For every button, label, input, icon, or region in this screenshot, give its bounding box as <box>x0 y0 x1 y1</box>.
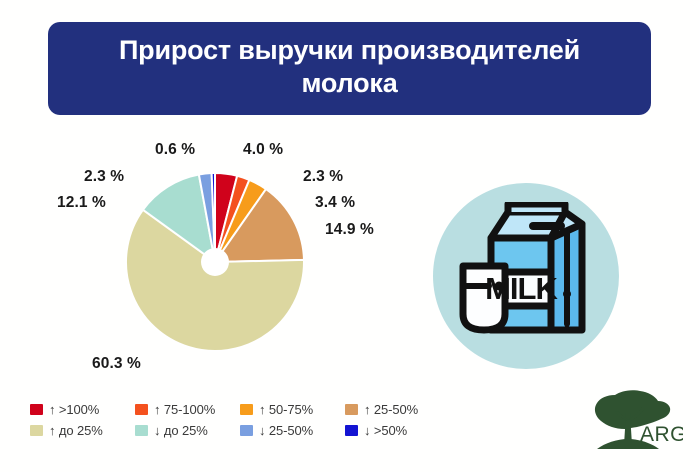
pie-label-up-gt100: 4.0 % <box>243 141 283 159</box>
legend-swatch <box>240 404 253 415</box>
carton-label-text: MILK <box>485 271 558 306</box>
legend-swatch <box>345 404 358 415</box>
legend-item-label: ↑ >100% <box>49 402 99 417</box>
title-banner: Прирост выручки производителей молока <box>48 22 651 115</box>
legend-item-label: ↓ 25-50% <box>259 423 313 438</box>
pie-label-up-do25: 60.3 % <box>92 355 141 373</box>
pie-label-up-75-100: 2.3 % <box>303 168 343 186</box>
legend-swatch <box>345 425 358 436</box>
legend-swatch <box>240 425 253 436</box>
legend-item[interactable]: ↑ до 25% <box>30 420 135 441</box>
pie-label-up-25-50: 14.9 % <box>325 221 374 239</box>
donut-hole <box>201 248 229 276</box>
legend-item-label: ↑ до 25% <box>49 423 103 438</box>
side-panel-dot <box>563 290 571 298</box>
legend-item[interactable]: ↓ 25-50% <box>240 420 345 441</box>
legend-item[interactable]: ↑ 50-75% <box>240 399 345 420</box>
pie-label-down-25-50: 2.3 % <box>84 168 124 186</box>
arg-logo-text: ARG <box>640 423 683 446</box>
pie-label-down-do25: 12.1 % <box>57 194 106 212</box>
legend-item-label: ↓ >50% <box>364 423 407 438</box>
pie-chart-svg <box>126 168 306 356</box>
legend-item[interactable]: ↑ 25-50% <box>345 399 450 420</box>
legend-item-label: ↑ 25-50% <box>364 402 418 417</box>
legend-swatch <box>30 404 43 415</box>
legend-swatch <box>135 425 148 436</box>
arg-logo: ARG <box>585 387 683 457</box>
milk-carton-illustration: MILK <box>433 183 619 369</box>
legend-item[interactable]: ↓ >50% <box>345 420 450 441</box>
legend-item[interactable]: ↓ до 25% <box>135 420 240 441</box>
pie-label-up-50-75: 3.4 % <box>315 194 355 212</box>
chart-legend: ↑ >100%↑ 75-100%↑ 50-75%↑ 25-50%↑ до 25%… <box>30 399 450 441</box>
pie-label-down-gt50: 0.6 % <box>155 141 195 159</box>
legend-item[interactable]: ↑ 75-100% <box>135 399 240 420</box>
page-title: Прирост выручки производителей молока <box>74 34 625 100</box>
legend-item-label: ↑ 75-100% <box>154 402 215 417</box>
legend-item[interactable]: ↑ >100% <box>30 399 135 420</box>
legend-item-label: ↑ 50-75% <box>259 402 313 417</box>
legend-swatch <box>30 425 43 436</box>
pie-chart <box>126 168 306 356</box>
legend-item-label: ↓ до 25% <box>154 423 208 438</box>
milk-carton-icon: MILK <box>455 202 599 352</box>
arg-logo-svg: ARG <box>585 387 683 457</box>
legend-swatch <box>135 404 148 415</box>
